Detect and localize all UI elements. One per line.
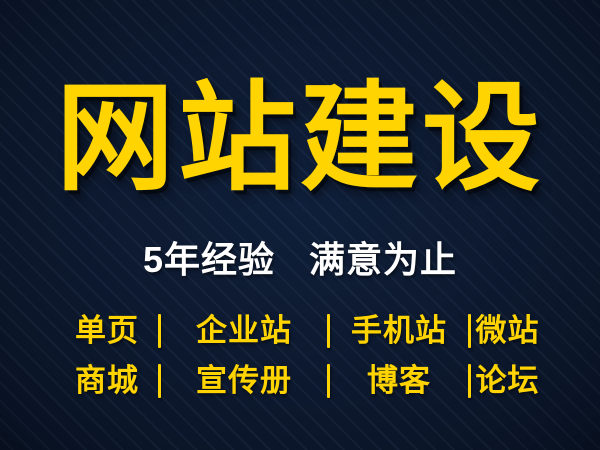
service-list: 单页 企业站 手机站 微站 商城 宣传册 博客 论坛 [60,306,540,406]
service-row-1: 单页 企业站 手机站 微站 [60,306,540,356]
service-item-brochure[interactable]: 宣传册 [165,363,323,399]
service-separator [158,314,161,348]
promo-banner: 网站建设 5年经验满意为止 单页 企业站 手机站 微站 商城 宣传册 博客 [0,0,600,450]
subtitle: 5年经验满意为止 [0,238,600,282]
service-separator [158,364,161,398]
service-item-wechat-site[interactable]: 微站 [475,313,540,349]
subtitle-part-experience: 5年经验 [143,239,275,280]
service-row-2: 商城 宣传册 博客 论坛 [60,356,540,406]
page-title: 网站建设 [0,74,600,204]
service-item-mall[interactable]: 商城 [60,363,154,399]
service-separator [468,364,471,398]
service-separator [468,314,471,348]
banner-content: 网站建设 5年经验满意为止 单页 企业站 手机站 微站 商城 宣传册 博客 [0,0,600,450]
service-item-enterprise-site[interactable]: 企业站 [165,313,323,349]
service-item-forum[interactable]: 论坛 [475,363,540,399]
service-separator [327,364,330,398]
service-item-single-page[interactable]: 单页 [60,313,154,349]
subtitle-part-satisfaction: 满意为止 [309,239,457,280]
service-item-blog[interactable]: 博客 [334,363,464,399]
service-separator [327,314,330,348]
service-item-mobile-site[interactable]: 手机站 [334,313,464,349]
